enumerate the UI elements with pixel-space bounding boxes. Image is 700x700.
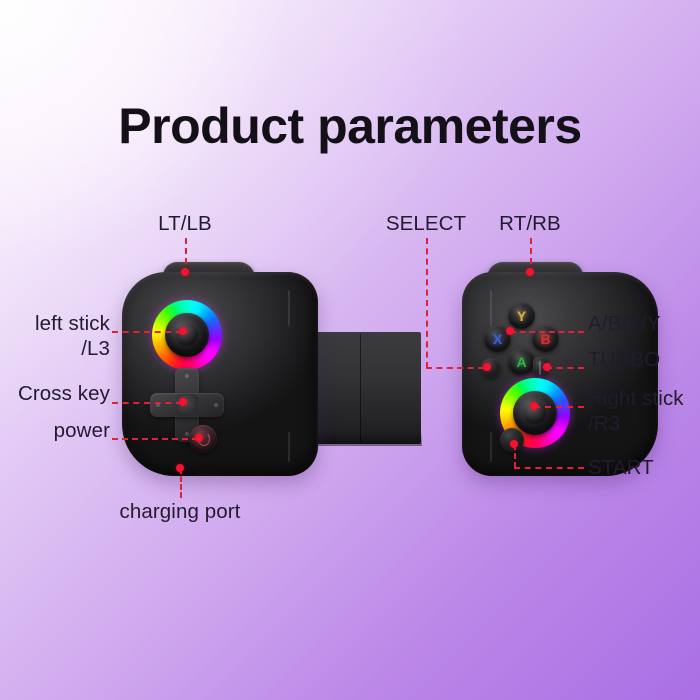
- label-abxy: A/B/X/Y: [588, 311, 700, 336]
- dot-lt-lb: [181, 268, 189, 276]
- label-start: START: [588, 455, 700, 480]
- dot-power: [195, 434, 203, 442]
- label-charging-port: charging port: [70, 499, 290, 524]
- dpad-right-nub: [214, 403, 218, 407]
- dot-start: [510, 440, 518, 448]
- button-a: A: [508, 348, 535, 375]
- dot-charging-port: [176, 464, 184, 472]
- dpad-hub: [176, 394, 198, 416]
- label-cross-key: Cross key: [0, 381, 110, 406]
- label-right-stick: Right stick /R3: [588, 386, 700, 436]
- dot-left-stick: [179, 327, 187, 335]
- left-grip-seam-top: [288, 290, 290, 326]
- leader-select-horizontal: [426, 367, 484, 369]
- dot-abxy: [506, 327, 514, 335]
- leader-charging-port: [180, 468, 182, 498]
- controller-bridge-right: [360, 332, 421, 444]
- right-grip-seam-top: [490, 290, 492, 326]
- label-left-stick: left stick /L3: [0, 311, 110, 361]
- dot-cross-key: [179, 398, 187, 406]
- button-y: Y: [508, 302, 535, 329]
- dot-turbo: [543, 363, 551, 371]
- leader-right-stick: [534, 406, 584, 408]
- dot-right-stick: [530, 402, 538, 410]
- bridge-seam: [360, 334, 361, 442]
- leader-abxy: [510, 331, 584, 333]
- charging-port: [196, 470, 222, 476]
- left-stick-cap: [165, 313, 209, 357]
- button-b: B: [532, 325, 559, 352]
- label-power: power: [0, 418, 110, 443]
- dot-rt-rb: [526, 268, 534, 276]
- leader-start-horizontal: [514, 467, 584, 469]
- dot-select: [483, 363, 491, 371]
- right-grip-seam-bottom: [490, 432, 492, 462]
- leader-turbo: [546, 367, 584, 369]
- leader-power: [112, 438, 198, 440]
- label-rt-rb: RT/RB: [440, 211, 620, 236]
- leader-left-stick: [112, 331, 182, 333]
- label-turbo: TURBO: [588, 347, 700, 372]
- leader-cross-key: [112, 402, 182, 404]
- product-parameters-slide: Product parameters: [0, 0, 700, 700]
- label-lt-lb: LT/LB: [95, 211, 275, 236]
- dpad-up-nub: [185, 374, 189, 378]
- leader-select-vertical: [426, 238, 428, 368]
- left-analog-stick: [152, 300, 222, 370]
- right-stick-cap: [513, 391, 557, 435]
- left-grip-seam-bottom: [288, 432, 290, 462]
